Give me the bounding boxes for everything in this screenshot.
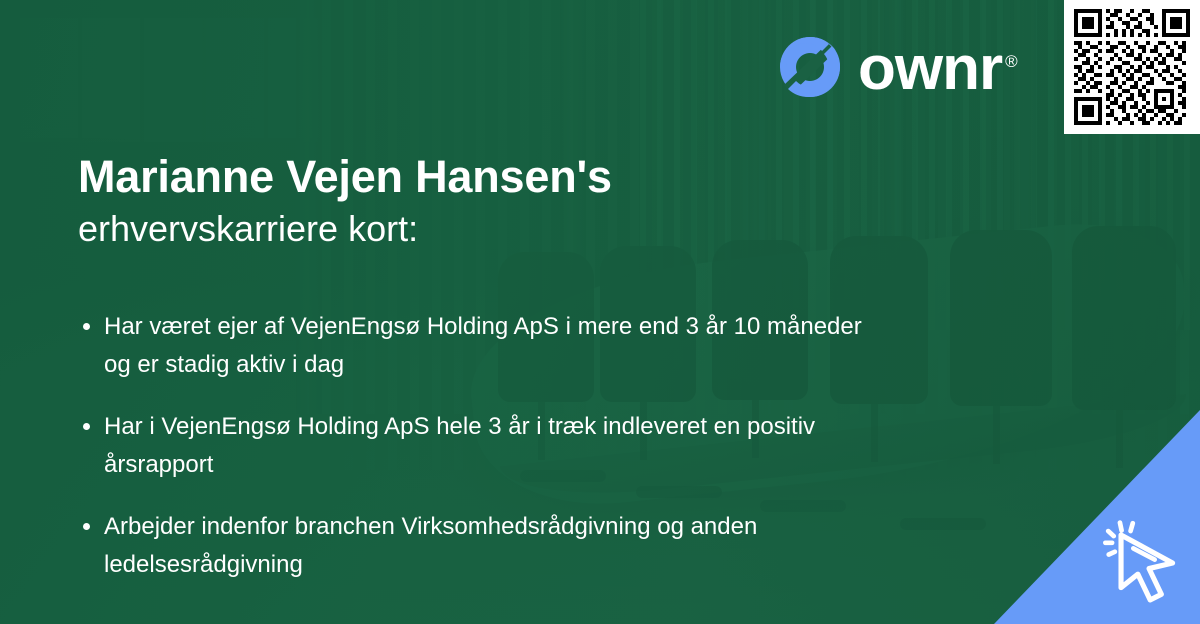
page-title: Marianne Vejen Hansen's erhvervskarriere… xyxy=(78,152,918,251)
headline-line-1: Marianne Vejen Hansen's xyxy=(78,152,918,202)
brand-wordmark: ownr® xyxy=(858,38,1014,100)
bullet-dot-icon xyxy=(83,423,90,430)
brand-wordmark-text: ownr xyxy=(858,34,1002,103)
list-item: Har været ejer af VejenEngsø Holding ApS… xyxy=(78,308,884,384)
qr-code-panel[interactable] xyxy=(1064,0,1200,134)
ownr-circle-logo xyxy=(778,35,842,99)
career-facts-list: Har været ejer af VejenEngsø Holding ApS… xyxy=(78,308,978,583)
list-item-label: Har været ejer af VejenEngsø Holding ApS… xyxy=(104,313,862,378)
bullet-dot-icon xyxy=(83,323,90,330)
list-item: Har i VejenEngsø Holding ApS hele 3 år i… xyxy=(78,408,884,484)
promo-card: ownr® Marianne Vejen Hansen's erhvervska… xyxy=(0,0,1200,624)
list-item-label: Arbejder indenfor branchen Virksomhedsrå… xyxy=(104,513,757,578)
list-item: Arbejder indenfor branchen Virksomhedsrå… xyxy=(78,508,884,584)
list-item-label: Har i VejenEngsø Holding ApS hele 3 år i… xyxy=(104,413,815,478)
qr-code[interactable] xyxy=(1074,9,1190,125)
headline-line-2: erhvervskarriere kort: xyxy=(78,208,918,250)
bullet-dot-icon xyxy=(83,523,90,530)
click-cursor-icon xyxy=(1074,498,1186,610)
registered-trademark-icon: ® xyxy=(1005,52,1017,71)
brand-logo[interactable]: ownr® xyxy=(778,35,1014,99)
